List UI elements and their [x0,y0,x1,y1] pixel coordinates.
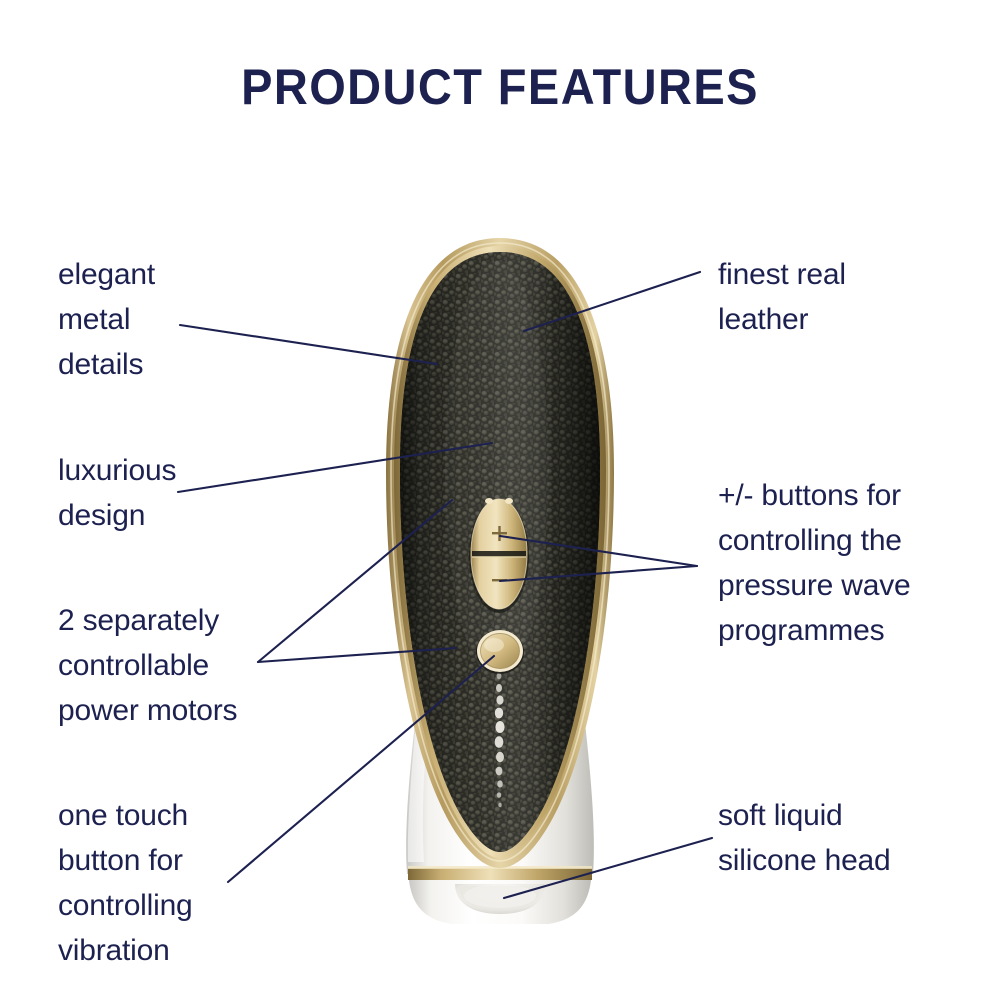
minus-icon [492,579,507,581]
power-button[interactable] [476,630,524,674]
callout-luxurious-design: luxurious design [58,448,298,538]
callout-elegant-metal-details: elegant metal details [58,252,298,387]
callout-plus-minus-buttons: +/- buttons for controlling the pressure… [718,473,988,653]
callout-one-touch-button: one touch button for controlling vibrati… [58,793,318,973]
callout-two-power-motors: 2 separately controllable power motors [58,598,338,733]
callout-soft-silicone-head: soft liquid silicone head [718,793,988,883]
callout-finest-real-leather: finest real leather [718,252,978,342]
silicone-head [409,880,591,924]
gold-base-band [408,866,592,880]
